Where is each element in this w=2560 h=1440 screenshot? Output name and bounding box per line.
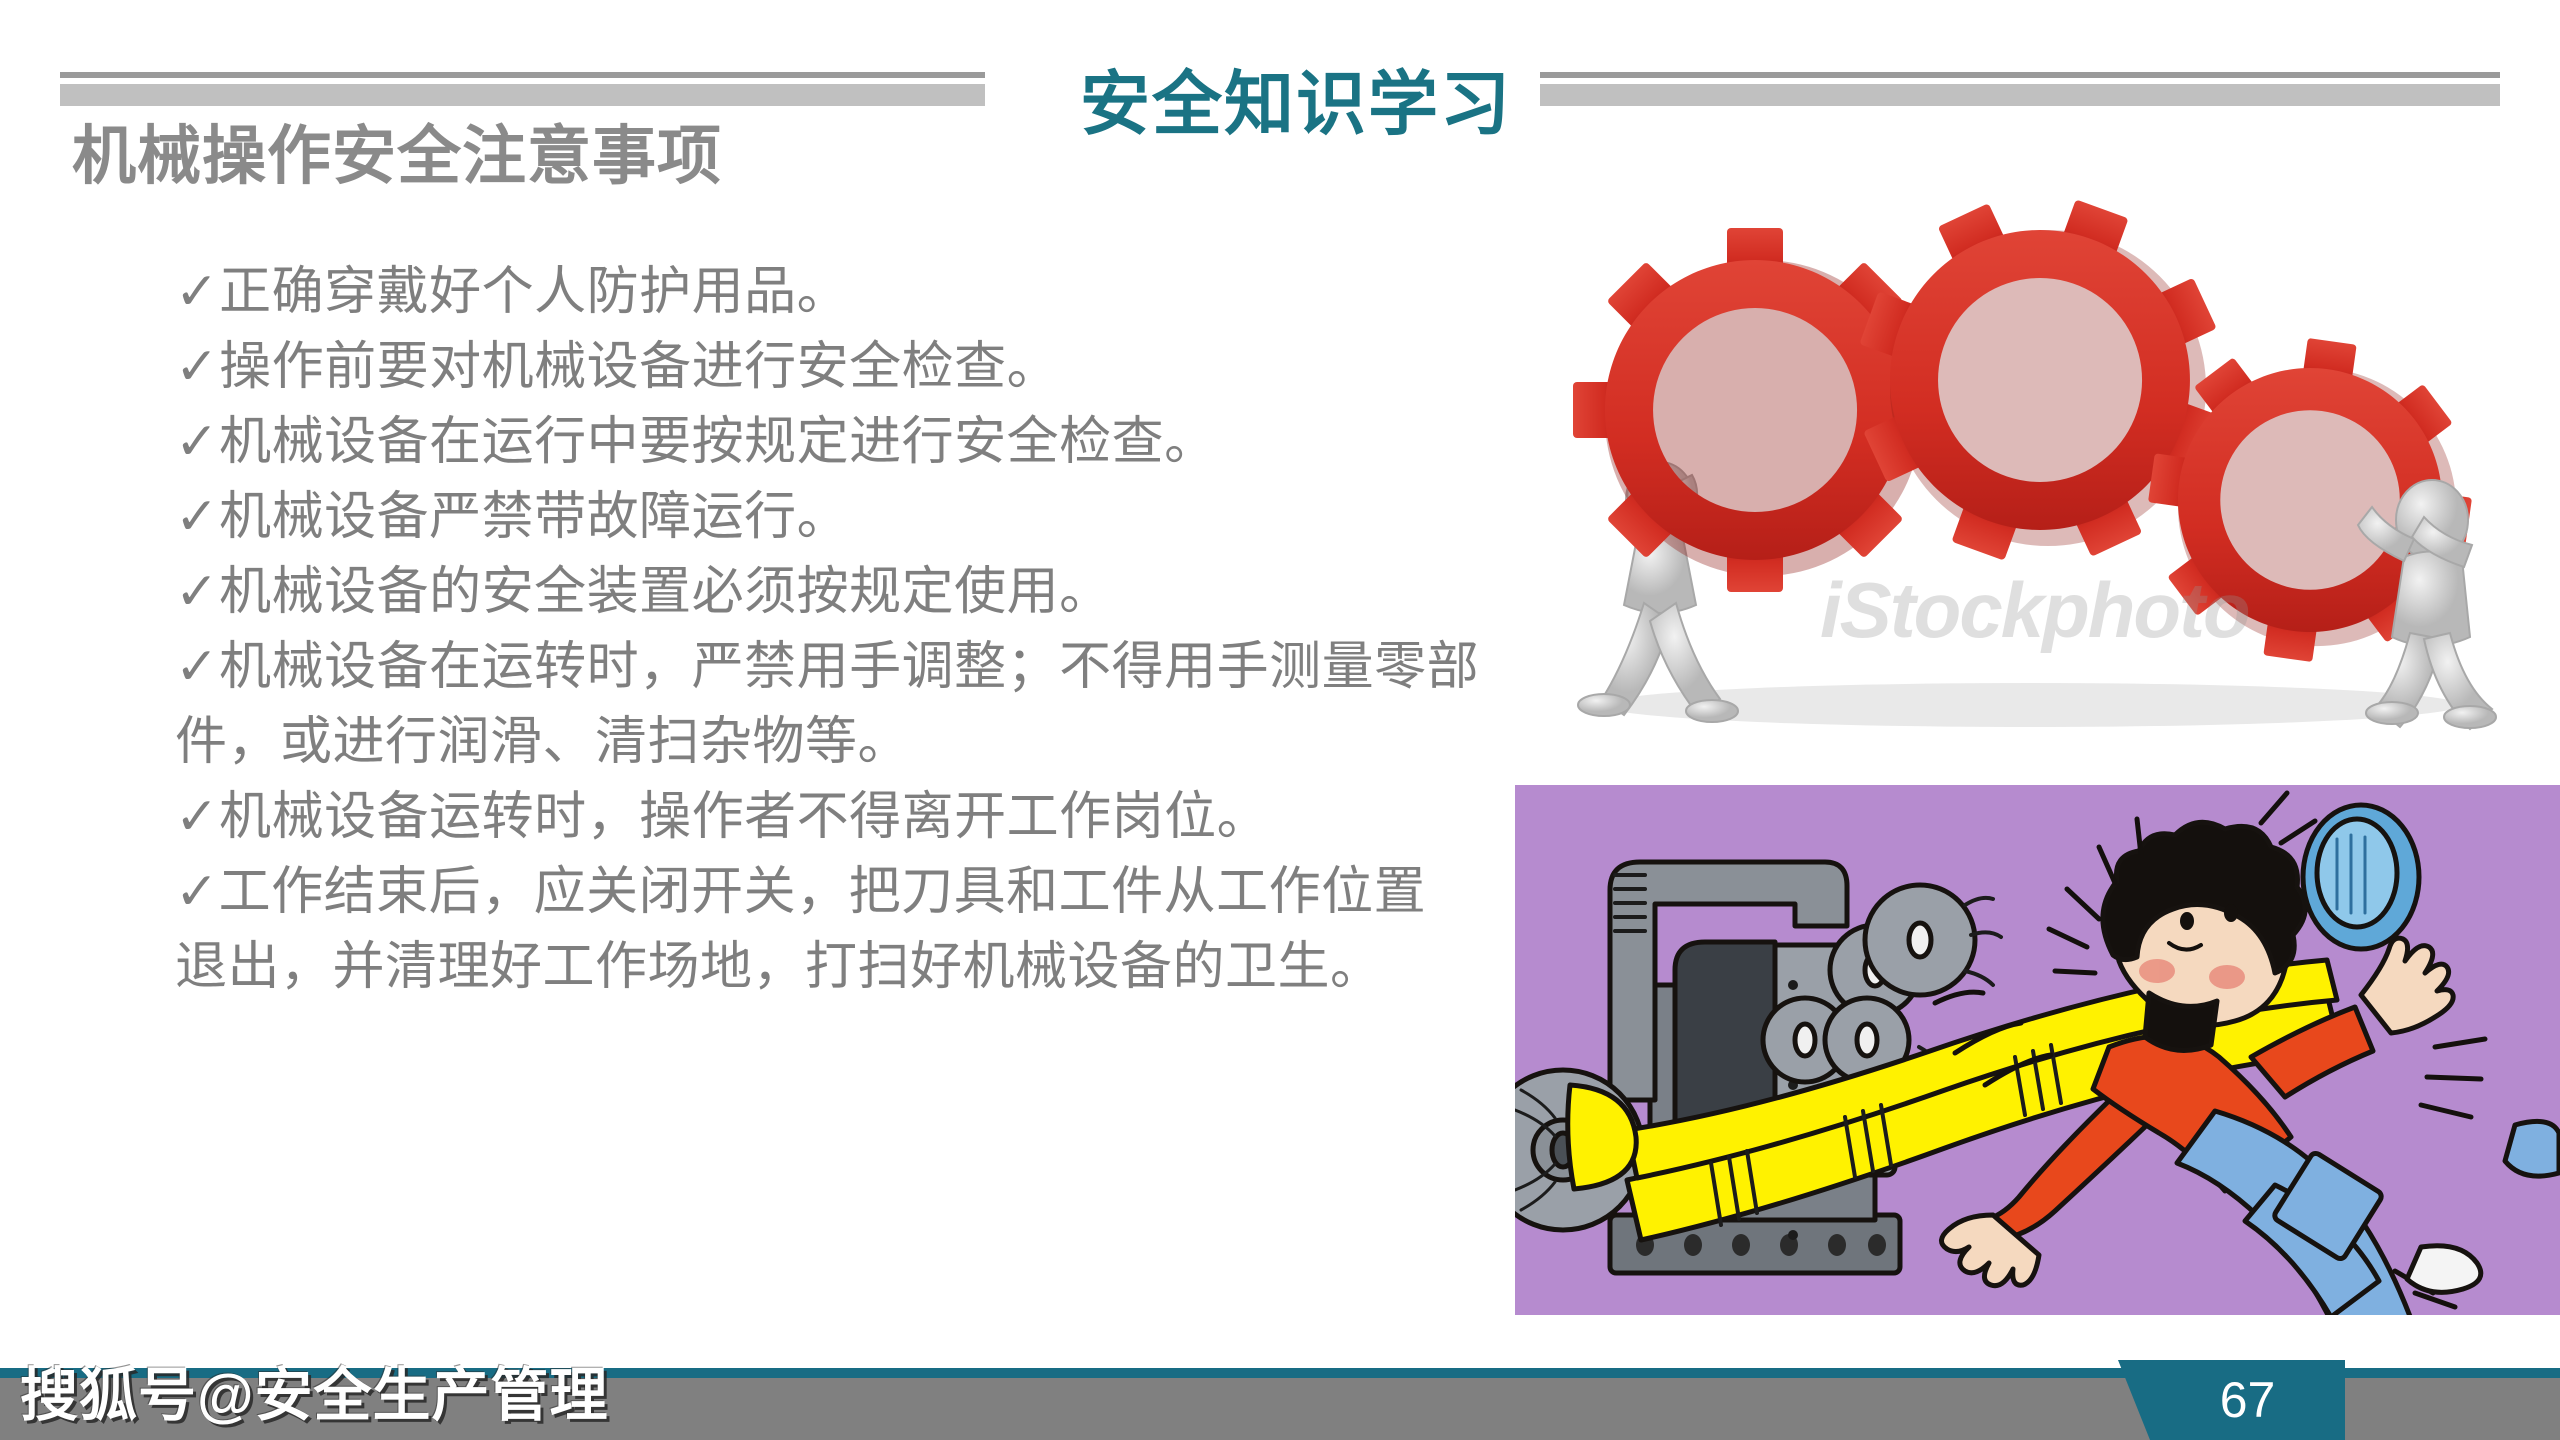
list-item: ✓操作前要对机械设备进行安全检查。 [175, 330, 1575, 405]
list-item-label: 机械设备在运行中要按规定进行安全检查。 [219, 413, 1217, 471]
page-number: 67 [2220, 1375, 2276, 1425]
list-item: ✓ 工作结束后，应关闭开关，把刀具和工件从工作位置 [175, 855, 1575, 930]
check-icon: ✓ [175, 855, 219, 930]
rule-thin-line-right [1540, 72, 2500, 78]
list-item: ✓机械设备严禁带故障运行。 [175, 480, 1575, 555]
list-item-continuation: 退出，并清理好工作场地，打扫好机械设备的卫生。 [175, 930, 1575, 1005]
gears-svg [1520, 165, 2540, 755]
list-item: ✓机械设备的安全装置必须按规定使用。 [175, 555, 1575, 630]
list-item: ✓机械设备在运行中要按规定进行安全检查。 [175, 405, 1575, 480]
check-icon: ✓ [175, 405, 219, 480]
list-item-label: 机械设备在运转时，严禁用手调整；不得用手测量零部 [219, 638, 1479, 696]
list-item: ✓机械设备在运转时，严禁用手调整；不得用手测量零部 [175, 630, 1575, 705]
accident-cartoon-svg [1515, 785, 2560, 1315]
list-item-label: 机械设备严禁带故障运行。 [219, 488, 849, 546]
list-item-label: 工作结束后，应关闭开关，把刀具和工件从工作位置 [219, 863, 1427, 921]
rule-thick-bar-left [60, 84, 985, 106]
rule-thin-line-left [60, 72, 985, 78]
check-icon: ✓ [175, 630, 219, 705]
list-item-label: 件，或进行润滑、清扫杂物等。 [175, 713, 910, 771]
list-item-label: 机械设备的安全装置必须按规定使用。 [219, 563, 1112, 621]
list-item-label: 操作前要对机械设备进行安全检查。 [219, 338, 1059, 396]
gear-2 [1859, 199, 2220, 560]
page-title: 安全知识学习 [1080, 48, 1480, 149]
bullet-list: ✓正确穿戴好个人防护用品。 ✓操作前要对机械设备进行安全检查。 ✓机械设备在运行… [175, 255, 1575, 1005]
list-item: ✓正确穿戴好个人防护用品。 [175, 255, 1575, 330]
list-item-label: 机械设备运转时，操作者不得离开工作岗位。 [219, 788, 1269, 846]
list-item-label: 正确穿戴好个人防护用品。 [219, 263, 849, 321]
list-item: ✓机械设备运转时，操作者不得离开工作岗位。 [175, 780, 1575, 855]
gears-illustration: iStockphoto [1520, 165, 2540, 755]
check-icon: ✓ [175, 555, 219, 630]
slide-root: 安全知识学习 机械操作安全注意事项 ✓正确穿戴好个人防护用品。 ✓操作前要对机械… [0, 0, 2560, 1440]
page-badge-notch [2118, 1360, 2150, 1440]
check-icon: ✓ [175, 255, 219, 330]
check-icon: ✓ [175, 780, 219, 855]
accident-cartoon-illustration [1515, 785, 2560, 1315]
header-rule-right [1540, 72, 2500, 112]
check-icon: ✓ [175, 480, 219, 555]
slide-header: 安全知识学习 机械操作安全注意事项 [0, 0, 2560, 180]
check-icon: ✓ [175, 330, 219, 405]
section-title: 机械操作安全注意事项 [72, 105, 722, 197]
list-item-continuation: 件，或进行润滑、清扫杂物等。 [175, 705, 1575, 780]
gear-1 [1573, 228, 1937, 592]
list-item-label: 退出，并清理好工作场地，打扫好机械设备的卫生。 [175, 938, 1383, 996]
page-number-badge: 67 [2150, 1360, 2345, 1440]
rule-thick-bar-right [1540, 84, 2500, 106]
sohu-watermark: 搜狐号@安全生产管理 [20, 1348, 609, 1432]
